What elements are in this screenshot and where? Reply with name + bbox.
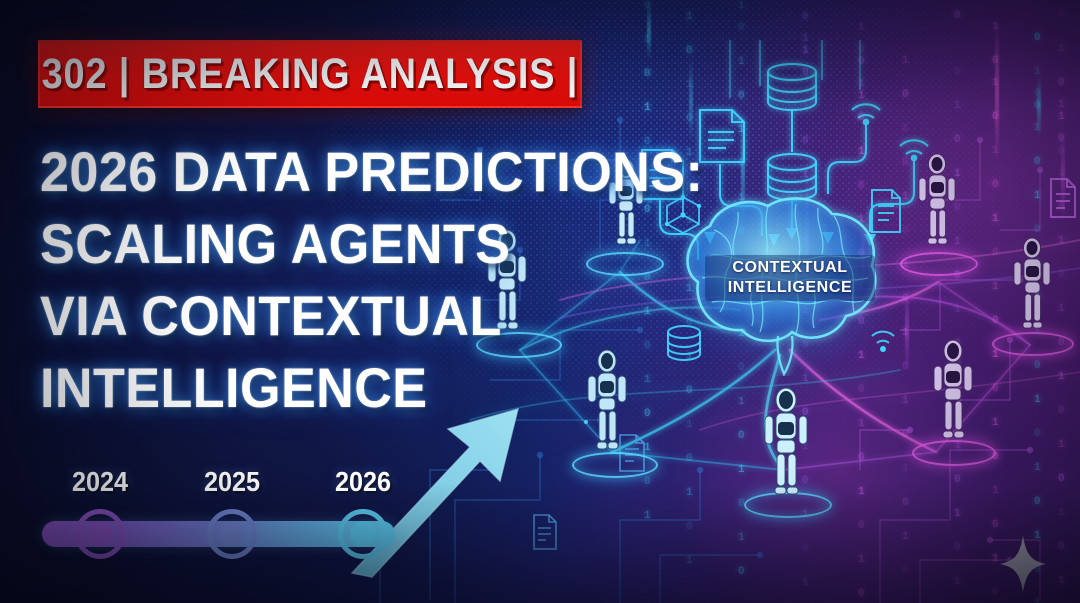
thumbnail-canvas: 0101010101010101101010101010101010101010…	[0, 0, 1080, 603]
brain-label-line1: CONTEXTUAL	[709, 258, 871, 278]
vignette-overlay	[0, 0, 1080, 603]
brain-label-line2: INTELLIGENCE	[709, 278, 871, 298]
brain-label: CONTEXTUAL INTELLIGENCE	[705, 255, 875, 301]
